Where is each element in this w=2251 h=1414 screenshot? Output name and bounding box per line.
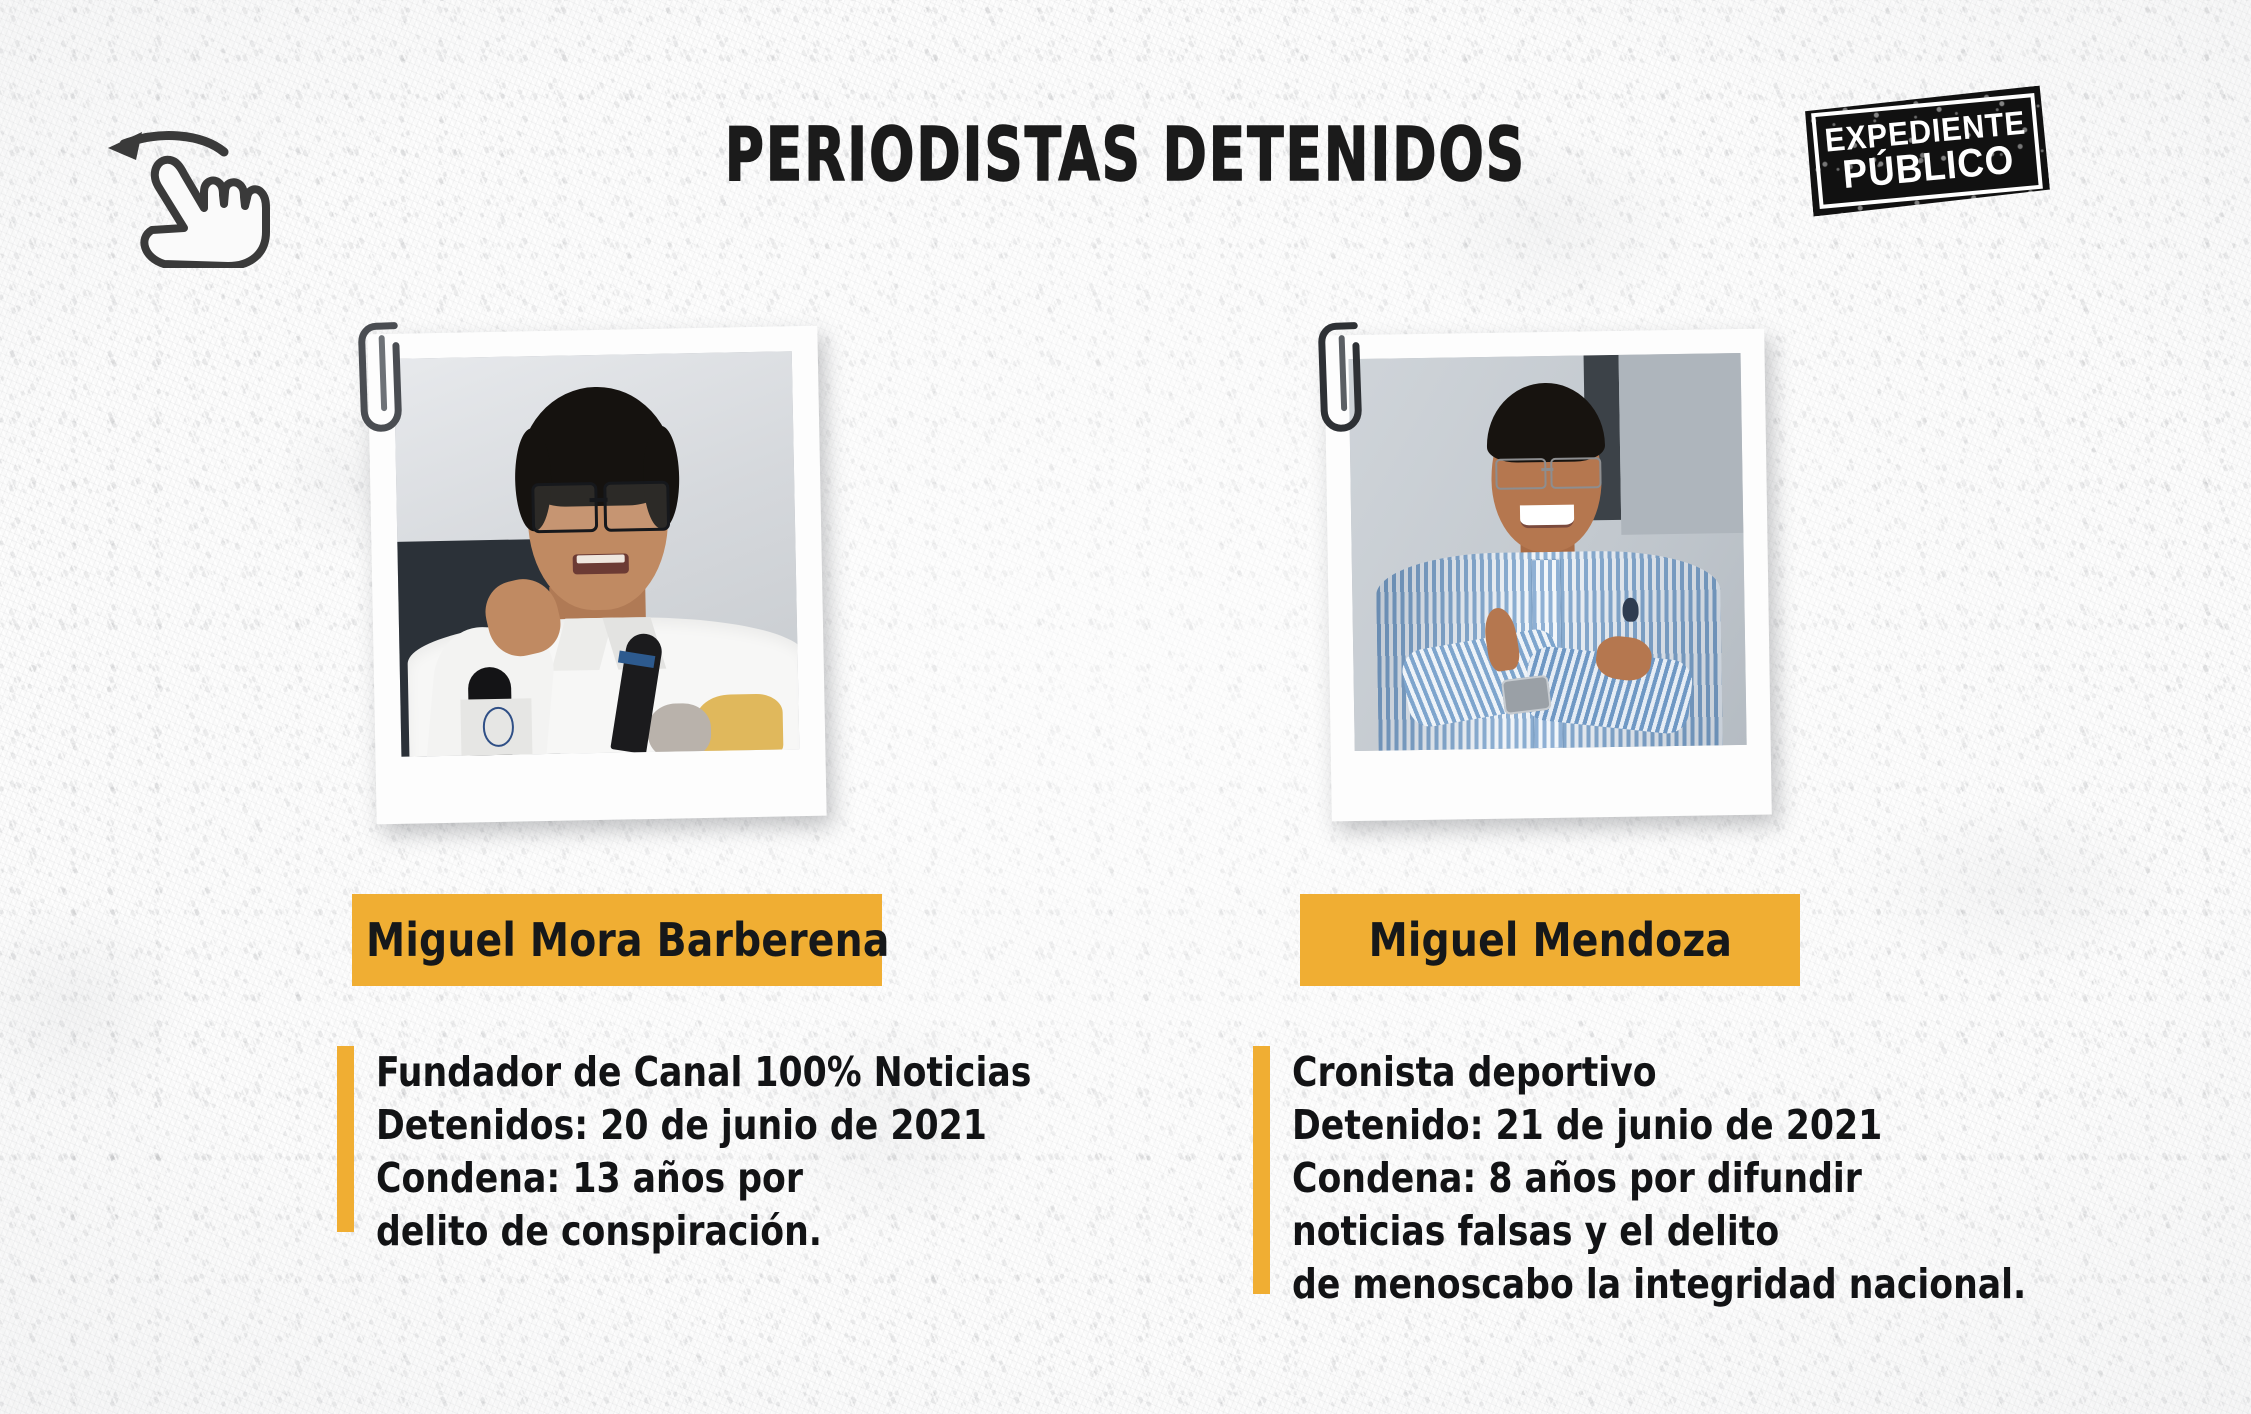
detail-line: Detenidos: 20 de junio de 2021 [376,1099,1031,1152]
journalist-photo-1 [394,351,800,757]
page-title: PERIODISTAS DETENIDOS [225,118,2026,192]
accent-bar-1 [337,1046,354,1232]
journalist-name-1: Miguel Mora Barberena [366,913,890,967]
detail-line: delito de conspiración. [376,1205,1031,1258]
journalist-card-1 [367,326,826,825]
detail-line: Condena: 13 años por [376,1152,1031,1205]
slide-canvas: PERIODISTAS DETENIDOS EXPEDIENTE PÚBLICO [0,0,2251,1414]
detail-line: Cronista deportivo [1292,1046,2026,1099]
journalist-name-badge-1: Miguel Mora Barberena [352,894,882,986]
journalist-name-2: Miguel Mendoza [1368,913,1732,967]
accent-bar-2 [1253,1046,1270,1294]
detail-line: de menoscabo la integridad nacional. [1292,1258,2026,1311]
detail-line: Condena: 8 años por difundir [1292,1152,2026,1205]
journalist-card-2 [1324,329,1772,822]
paperclip-icon-1 [356,315,416,437]
journalist-detail-lines-1: Fundador de Canal 100% Noticias Detenido… [376,1046,1073,1258]
journalist-photo-2 [1349,353,1747,751]
journalist-name-badge-2: Miguel Mendoza [1300,894,1800,986]
expediente-publico-logo: EXPEDIENTE PÚBLICO [1804,85,2051,216]
detail-line: noticias falsas y el delito [1292,1205,2026,1258]
journalist-detail-lines-2: Cronista deportivo Detenido: 21 de junio… [1292,1046,2073,1311]
detail-line: Fundador de Canal 100% Noticias [376,1046,1031,1099]
paperclip-icon-2 [1316,315,1376,437]
detail-line: Detenido: 21 de junio de 2021 [1292,1099,2026,1152]
